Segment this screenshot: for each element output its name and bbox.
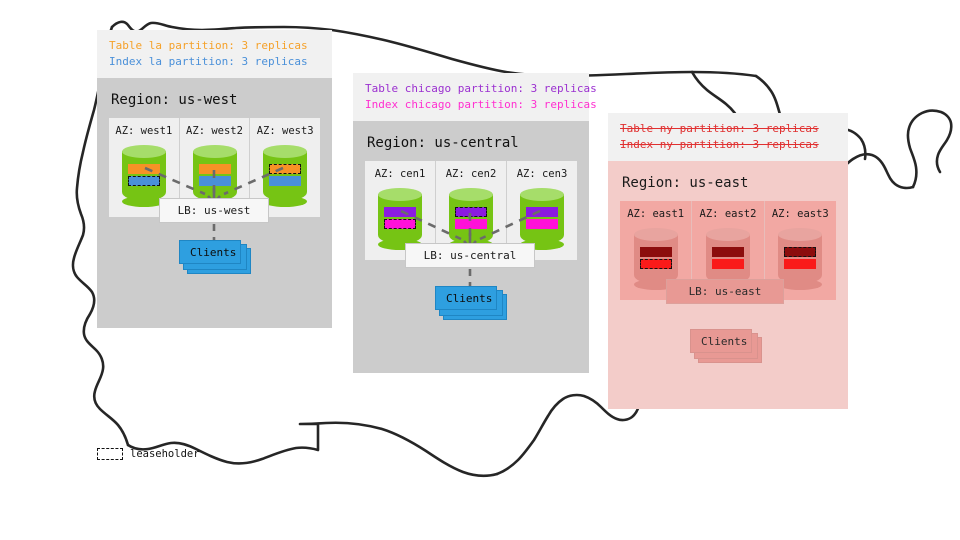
load-balancer-us-east[interactable]: LB: us-east: [666, 279, 784, 304]
clients-box-us-central[interactable]: Clients: [435, 286, 497, 310]
region-cluster-us-west: Table la partition: 3 replicas Index la …: [97, 30, 332, 328]
cylinder-bottom: [778, 279, 822, 290]
region-panel-us-central: Region: us-central AZ: cen1 AZ: cen2: [353, 121, 589, 373]
partition-line-table: Table ny partition: 3 replicas: [620, 121, 836, 137]
legend-label: leaseholder: [130, 448, 200, 460]
clients-stack-us-west: Clients: [179, 240, 251, 274]
table-replica-band: [712, 247, 744, 257]
clients-label: Clients: [190, 246, 236, 259]
index-replica-band: [784, 259, 816, 269]
connector-cen1-lb: [401, 211, 461, 239]
region-panel-us-east: Region: us-east AZ: east1 AZ: east2: [608, 161, 848, 409]
replica-cylinder-east3[interactable]: [778, 228, 822, 290]
region-cluster-us-central: Table chicago partition: 3 replicas Inde…: [353, 73, 589, 373]
partition-line-index: Index la partition: 3 replicas: [109, 54, 320, 70]
connector-cen3-lb: [480, 211, 540, 239]
lb-label: LB: us-east: [689, 285, 762, 298]
az-label: AZ: east1: [627, 208, 684, 220]
load-balancer-us-central[interactable]: LB: us-central: [405, 243, 535, 268]
connector-west1-lb: [145, 168, 205, 194]
clients-label: Clients: [446, 292, 492, 305]
legend: leaseholder: [97, 448, 200, 460]
index-replica-band: [712, 259, 744, 269]
dashed-rectangle-icon: [97, 448, 123, 460]
clients-stack-us-east: Clients: [690, 329, 762, 363]
table-replica-band-leaseholder: [784, 247, 816, 257]
region-title: Region: us-east: [622, 175, 836, 191]
region-panel-us-west: Region: us-west AZ: west1 AZ: west2: [97, 78, 332, 328]
lb-label: LB: us-central: [424, 249, 517, 262]
lb-label: LB: us-west: [178, 204, 251, 217]
table-replica-band: [640, 247, 672, 257]
partition-header-us-central: Table chicago partition: 3 replicas Inde…: [353, 73, 589, 121]
partition-header-us-east: Table ny partition: 3 replicas Index ny …: [608, 113, 848, 161]
partition-line-table: Table la partition: 3 replicas: [109, 38, 320, 54]
clients-label: Clients: [701, 335, 747, 348]
index-replica-band-leaseholder: [640, 259, 672, 269]
clients-box-us-east[interactable]: Clients: [690, 329, 752, 353]
az-label: AZ: east3: [772, 208, 829, 220]
connector-west3-lb: [224, 168, 283, 194]
az-label: AZ: east2: [700, 208, 757, 220]
clients-stack-us-central: Clients: [435, 286, 507, 320]
partition-header-us-west: Table la partition: 3 replicas Index la …: [97, 30, 332, 78]
partition-line-table: Table chicago partition: 3 replicas: [365, 81, 577, 97]
clients-box-us-west[interactable]: Clients: [179, 240, 241, 264]
partition-line-index: Index chicago partition: 3 replicas: [365, 97, 577, 113]
region-cluster-us-east: Table ny partition: 3 replicas Index ny …: [608, 113, 848, 409]
load-balancer-us-west[interactable]: LB: us-west: [159, 198, 269, 223]
partition-line-index: Index ny partition: 3 replicas: [620, 137, 836, 153]
